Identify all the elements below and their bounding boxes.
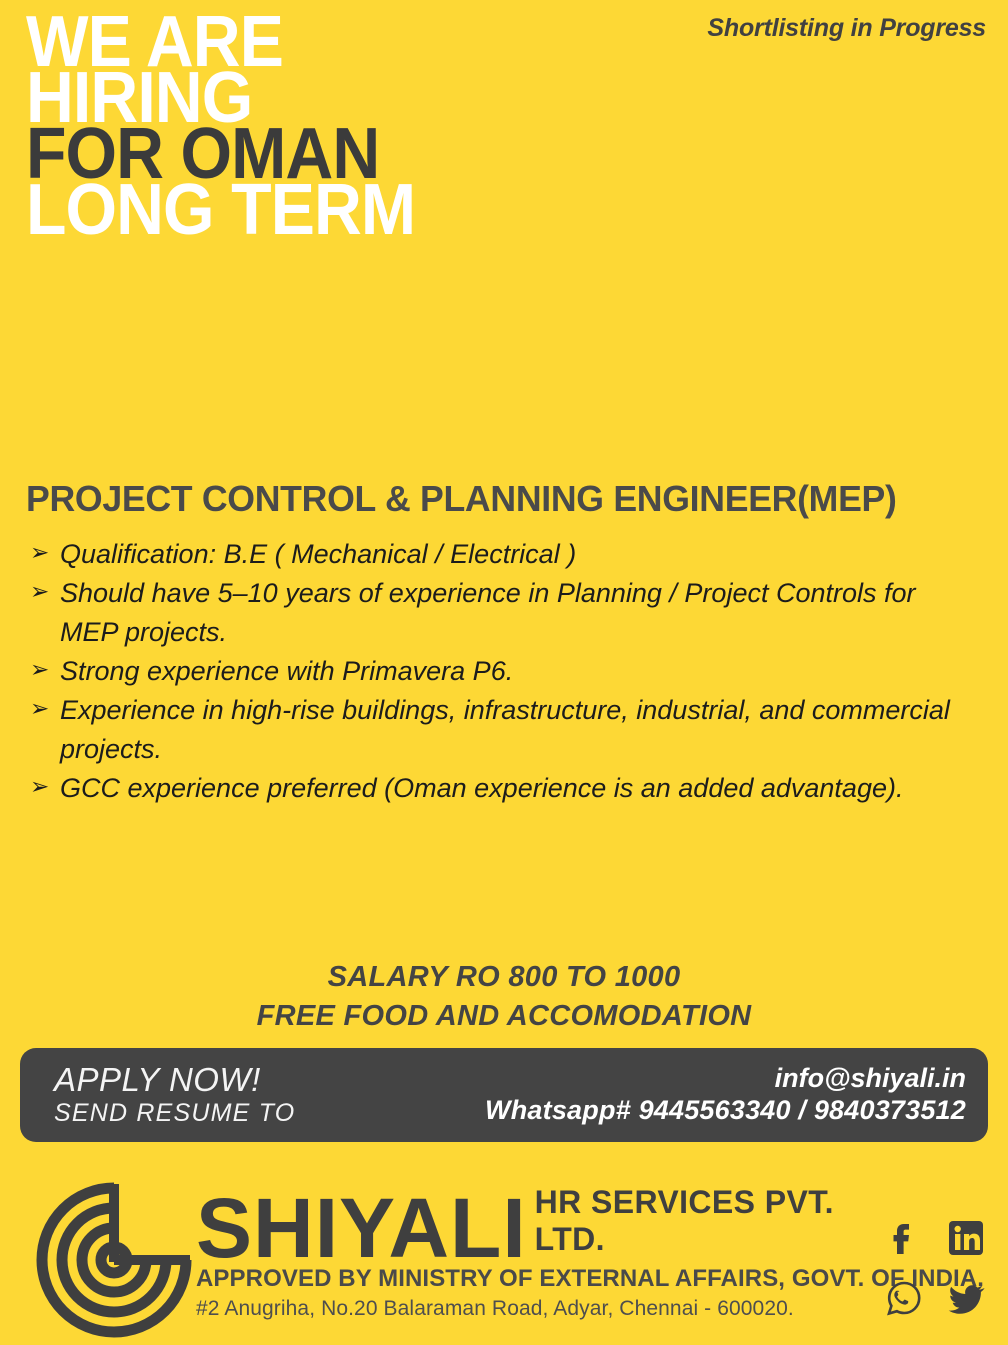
salary-text: SALARY RO 800 TO 1000 [0, 958, 1008, 997]
headline: WE ARE HIRING FOR OMAN LONG TERM [26, 14, 726, 239]
company-approval: APPROVED BY MINISTRY OF EXTERNAL AFFAIRS… [196, 1265, 886, 1293]
requirement-text: Strong experience with Primavera P6. [60, 652, 980, 690]
company-address: #2 Anugriha, No.20 Balaraman Road, Adyar… [196, 1297, 886, 1321]
bullet-arrow-icon: ➢ [30, 652, 60, 688]
shortlisting-status-note: Shortlisting in Progress [707, 14, 986, 43]
requirements-list: ➢ Qualification: B.E ( Mechanical / Elec… [30, 535, 980, 808]
bullet-arrow-icon: ➢ [30, 535, 60, 571]
bullet-arrow-icon: ➢ [30, 769, 60, 805]
requirement-item: ➢ Qualification: B.E ( Mechanical / Elec… [30, 535, 980, 573]
twitter-icon[interactable] [942, 1274, 990, 1322]
job-title: PROJECT CONTROL & PLANNING ENGINEER(MEP) [26, 478, 972, 520]
contact-email[interactable]: info@shiyali.in [485, 1062, 966, 1094]
send-resume-label: SEND RESUME TO [54, 1098, 295, 1128]
benefits-text: FREE FOOD AND ACCOMODATION [0, 997, 1008, 1036]
footer: SHIYALI HR SERVICES PVT. LTD. APPROVED B… [0, 1178, 1008, 1344]
facebook-icon[interactable] [880, 1214, 928, 1262]
requirement-item: ➢ GCC experience preferred (Oman experie… [30, 769, 980, 807]
whatsapp-icon[interactable] [880, 1274, 928, 1322]
requirement-text: Should have 5–10 years of experience in … [60, 574, 980, 651]
company-name: SHIYALI [196, 1194, 527, 1263]
shiyali-logo-icon [34, 1180, 194, 1340]
requirement-text: Qualification: B.E ( Mechanical / Electr… [60, 535, 980, 573]
contact-whatsapp[interactable]: Whatsapp# 9445563340 / 9840373512 [485, 1094, 966, 1128]
apply-bar: APPLY NOW! SEND RESUME TO info@shiyali.i… [20, 1048, 988, 1142]
bullet-arrow-icon: ➢ [30, 691, 60, 727]
social-links [880, 1214, 996, 1322]
apply-now-label: APPLY NOW! [54, 1062, 295, 1099]
headline-line-4: LONG TERM [26, 182, 670, 238]
requirement-text: GCC experience preferred (Oman experienc… [60, 769, 980, 807]
brand-block: SHIYALI HR SERVICES PVT. LTD. APPROVED B… [196, 1184, 886, 1321]
apply-cta-group: APPLY NOW! SEND RESUME TO [54, 1062, 295, 1129]
requirement-text: Experience in high-rise buildings, infra… [60, 691, 980, 768]
contact-group: info@shiyali.in Whatsapp# 9445563340 / 9… [485, 1062, 966, 1128]
company-descriptor: HR SERVICES PVT. LTD. [535, 1184, 886, 1263]
requirement-item: ➢ Strong experience with Primavera P6. [30, 652, 980, 690]
requirement-item: ➢ Should have 5–10 years of experience i… [30, 574, 980, 651]
linkedin-icon[interactable] [942, 1214, 990, 1262]
requirement-item: ➢ Experience in high-rise buildings, inf… [30, 691, 980, 768]
bullet-arrow-icon: ➢ [30, 574, 60, 610]
offer-block: SALARY RO 800 TO 1000 FREE FOOD AND ACCO… [0, 958, 1008, 1035]
